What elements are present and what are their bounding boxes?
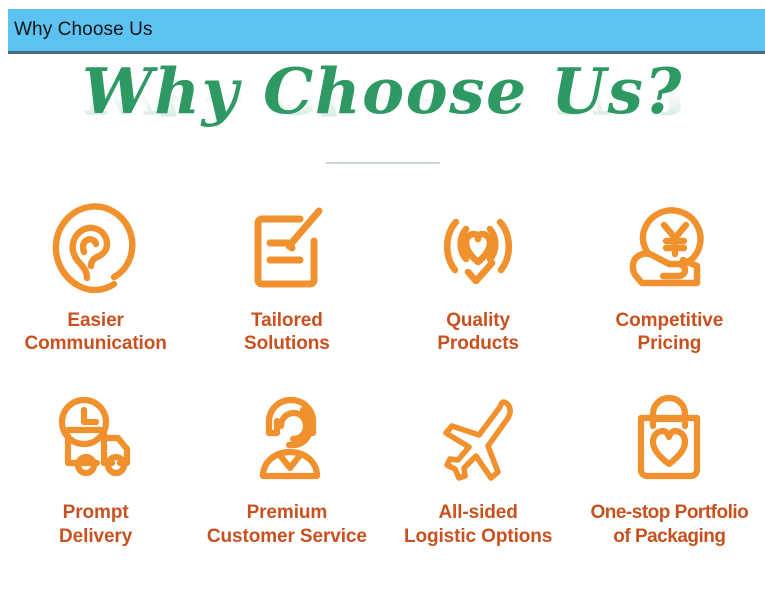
- feature-label: Tailored Solutions: [244, 309, 330, 355]
- feature-item-prompt-delivery[interactable]: Prompt Delivery: [0, 388, 191, 547]
- feature-item-premium-customer-service[interactable]: Premium Customer Service: [191, 388, 382, 547]
- window-header-bar: Why Choose Us: [8, 9, 765, 51]
- hero-divider: [326, 162, 440, 164]
- feature-label: One-stop Portfolio of Packaging: [590, 501, 748, 547]
- hero-title-wrap: Why Choose Us? Why Choose Us?: [82, 58, 683, 124]
- feature-label: Easier Communication: [24, 309, 166, 355]
- delivery-truck-clock-icon: [46, 388, 146, 492]
- feature-item-quality-products[interactable]: Quality Products: [383, 196, 574, 355]
- feature-label: Quality Products: [437, 309, 519, 355]
- feature-label: Premium Customer Service: [207, 501, 367, 547]
- heart-check-signal-icon: [428, 196, 528, 300]
- feature-label: Competitive Pricing: [616, 309, 724, 355]
- feature-item-easier-communication[interactable]: Easier Communication: [0, 196, 191, 355]
- feature-item-competitive-pricing[interactable]: Competitive Pricing: [574, 196, 765, 355]
- feature-row: Prompt Delivery Premium Customer Service: [0, 388, 765, 547]
- feature-grid: Easier Communication Tailored Solutions: [0, 196, 765, 548]
- feature-label: All-sided Logistic Options: [404, 501, 552, 547]
- headset-agent-icon: [237, 388, 337, 492]
- airplane-icon: [428, 388, 528, 492]
- feature-label: Prompt Delivery: [59, 501, 132, 547]
- feature-item-tailored-solutions[interactable]: Tailored Solutions: [191, 196, 382, 355]
- feature-item-all-sided-logistic-options[interactable]: All-sided Logistic Options: [383, 388, 574, 547]
- hero-title: Why Choose Us?: [82, 58, 683, 124]
- page-title: Why Choose Us: [8, 19, 153, 41]
- feature-row: Easier Communication Tailored Solutions: [0, 196, 765, 355]
- feature-item-one-stop-portfolio-of-packaging[interactable]: One-stop Portfolio of Packaging: [574, 388, 765, 547]
- hand-yen-coin-icon: [619, 196, 719, 300]
- shopping-bag-heart-icon: [619, 388, 719, 492]
- hero-section: Why Choose Us? Why Choose Us?: [0, 58, 765, 173]
- ear-listening-icon: [46, 196, 146, 300]
- document-pencil-icon: [237, 196, 337, 300]
